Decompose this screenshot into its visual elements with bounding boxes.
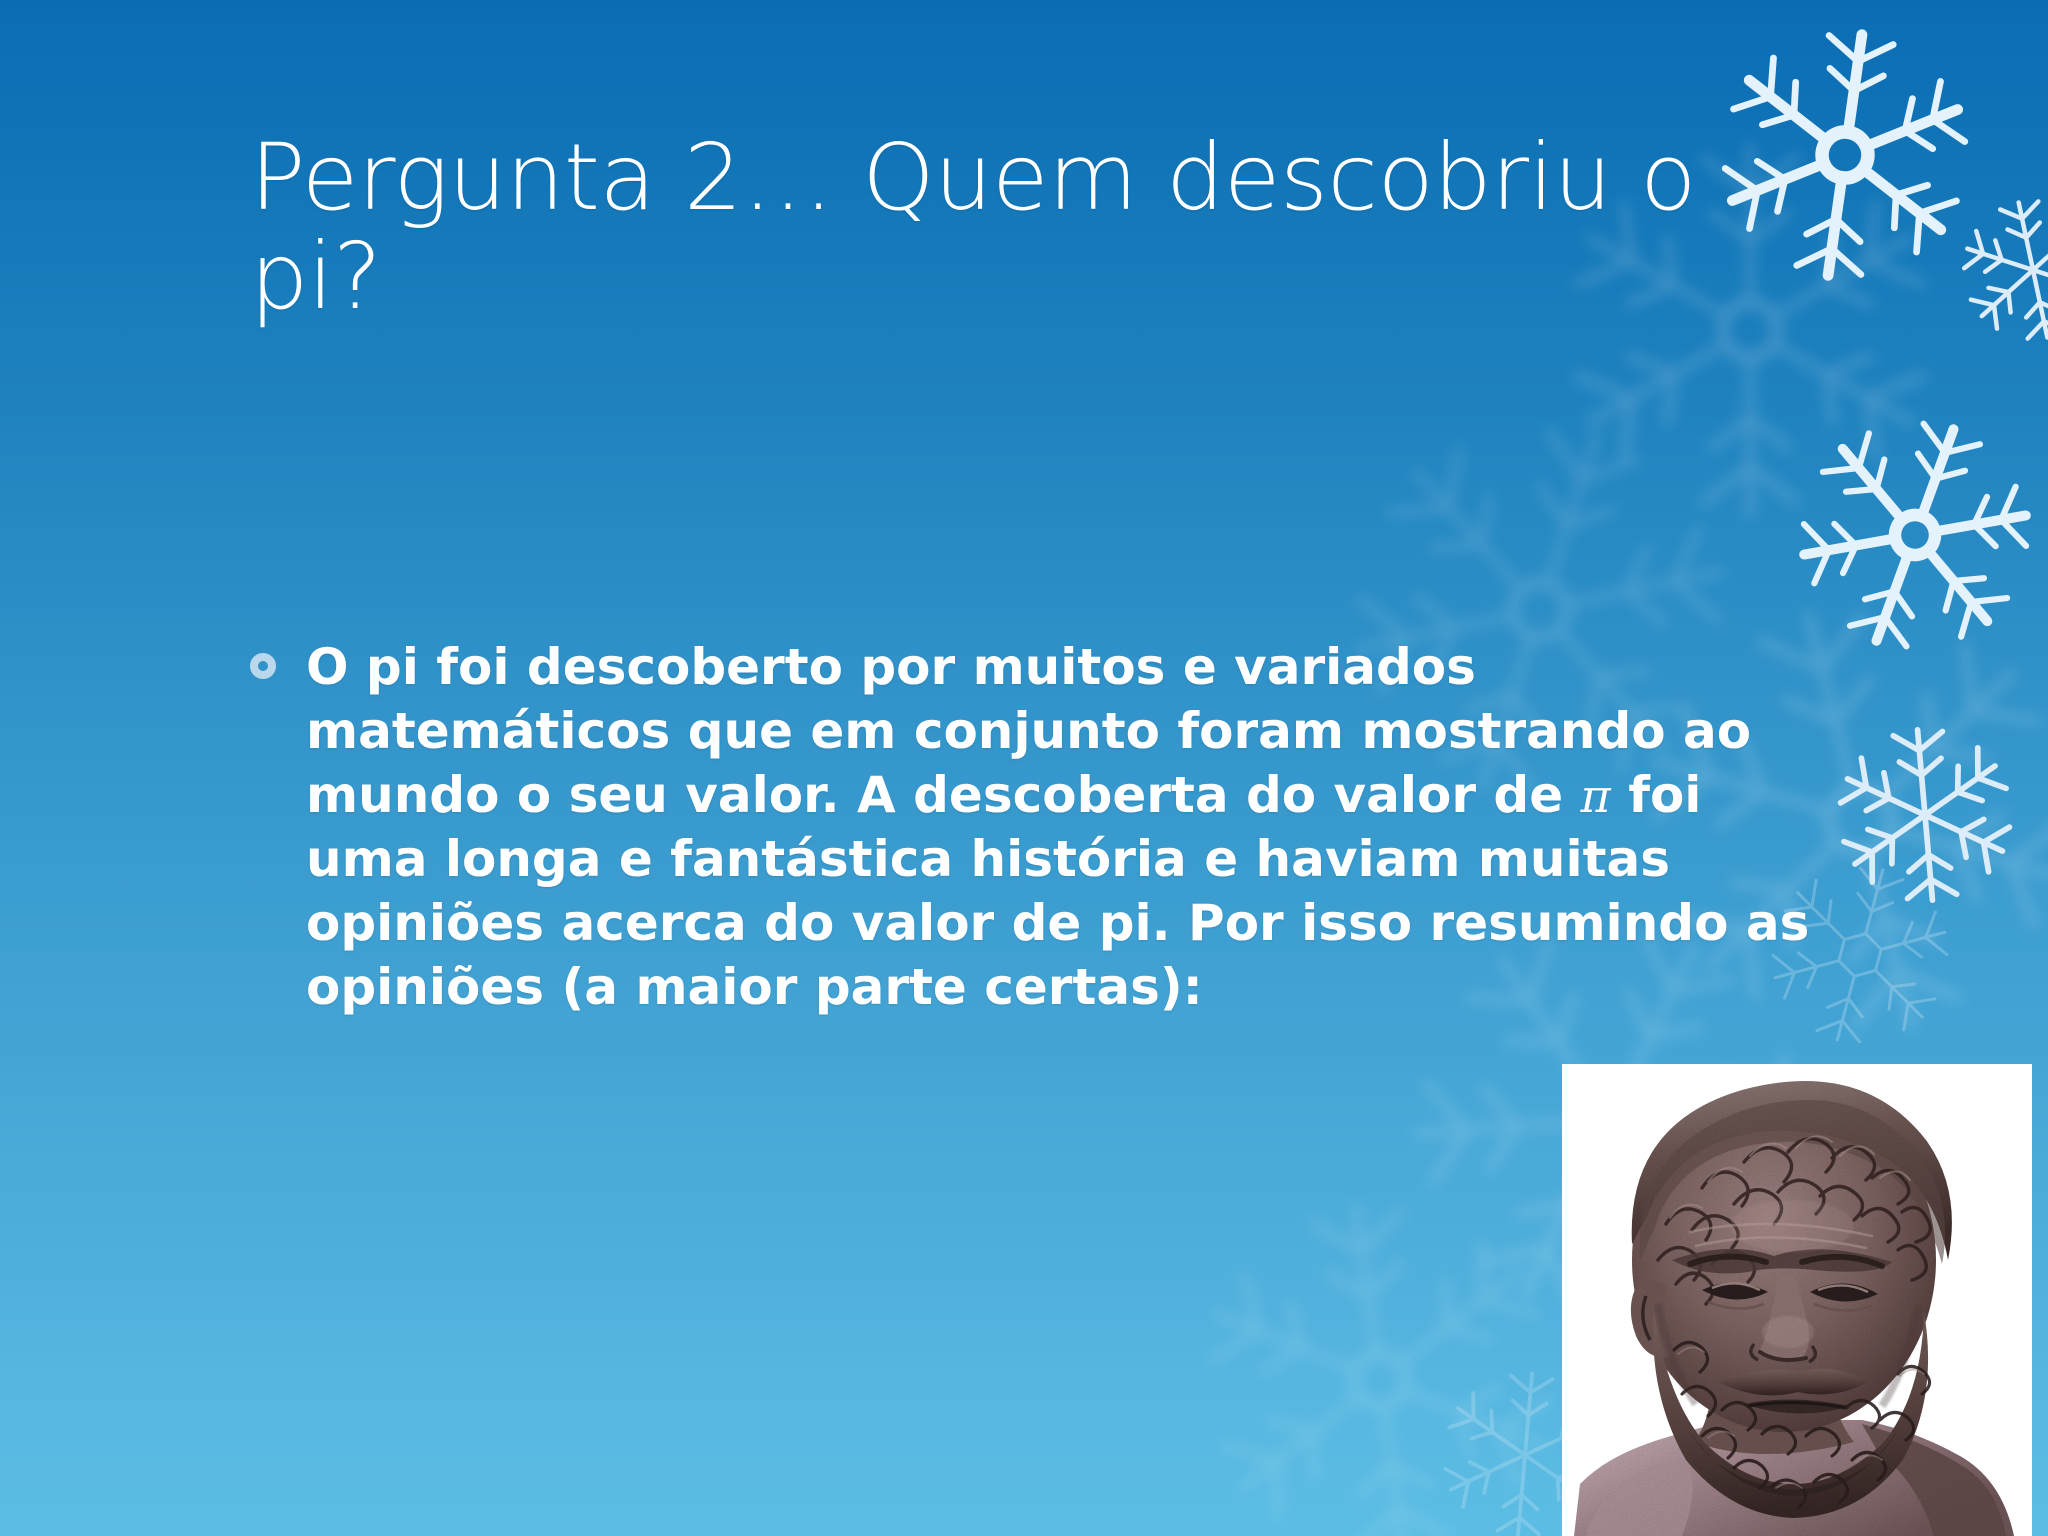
slide-body-list: O pi foi descoberto por muitos e variado… [250, 635, 1810, 1019]
picture-frame[interactable] [1562, 1064, 2032, 1536]
bullet-paragraph: O pi foi descoberto por muitos e variado… [306, 635, 1810, 1019]
ring-bullet-icon [250, 635, 306, 679]
snowflake-mid-right-large-icon [1790, 410, 2040, 660]
bullet-text-part-1: O pi foi descoberto por muitos e variado… [306, 638, 1751, 824]
philosopher-bust-image [1562, 1064, 2032, 1536]
snowflake-top-right-small-icon [1958, 195, 2048, 345]
list-item: O pi foi descoberto por muitos e variado… [250, 635, 1810, 1019]
pi-symbol: π [1581, 769, 1611, 823]
slide-title: Pergunta 2… Quem descobriu o pi? [250, 128, 1810, 327]
snowflake-mid-right-medium-icon [1830, 720, 2020, 910]
watermark-snowflake-bottom-icon [1180, 1180, 1580, 1536]
presentation-slide: Pergunta 2… Quem descobriu o pi? [0, 0, 2048, 1536]
